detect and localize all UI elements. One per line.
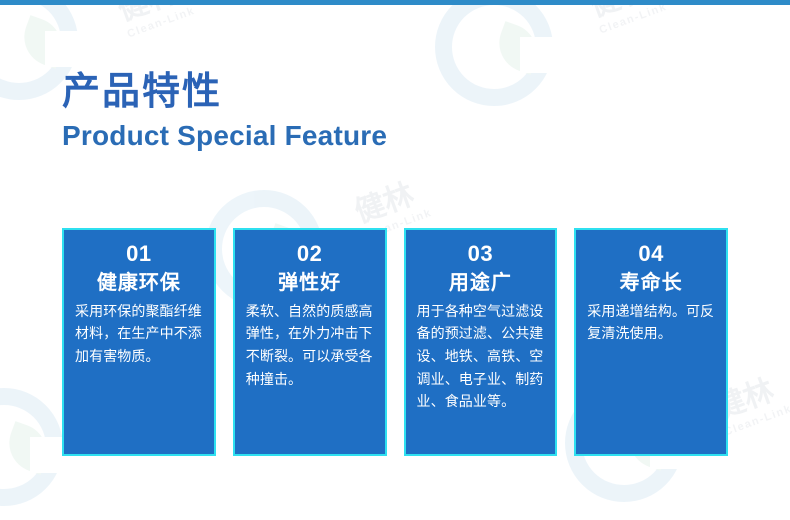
feature-card-body: 采用递增结构。可反复清洗使用。: [587, 301, 715, 346]
watermark-brand-top-left: 健林 Clean-Link: [111, 0, 197, 40]
feature-card-title: 用途广: [449, 269, 512, 295]
feature-card-title: 健康环保: [97, 269, 181, 295]
page-heading: 产品特性 Product Special Feature: [62, 72, 387, 152]
product-feature-page: 健林 Clean-Link 健林 Clean-Link 健林 Clean-Lin…: [0, 0, 790, 520]
feature-card-body: 用于各种空气过滤设备的预过滤、公共建设、地铁、高铁、空调业、电子业、制药业、食品…: [417, 301, 545, 414]
watermark-cn-text: 健林: [348, 166, 430, 232]
feature-card-number: 04: [638, 240, 663, 268]
feature-card: 04 寿命长 采用递增结构。可反复清洗使用。: [574, 228, 728, 456]
watermark-logo-icon: [0, 388, 63, 506]
page-title-en: Product Special Feature: [62, 120, 387, 152]
watermark-brand-top-right: 健林 Clean-Link: [583, 0, 669, 36]
feature-card-number: 01: [126, 240, 151, 268]
watermark-logo-icon: [435, 0, 553, 106]
feature-card: 01 健康环保 采用环保的聚酯纤维材料，在生产中不添加有害物质。: [62, 228, 216, 456]
watermark-latin-text: Clean-Link: [598, 1, 669, 37]
feature-card-title: 弹性好: [278, 269, 341, 295]
feature-card: 03 用途广 用于各种空气过滤设备的预过滤、公共建设、地铁、高铁、空调业、电子业…: [404, 228, 558, 456]
page-title-cn: 产品特性: [62, 72, 387, 112]
feature-card-number: 03: [468, 240, 493, 268]
feature-card-number: 02: [297, 240, 322, 268]
top-accent-bar: [0, 0, 790, 5]
feature-card: 02 弹性好 柔软、自然的质感高弹性，在外力冲击下不断裂。可以承受各种撞击。: [233, 228, 387, 456]
feature-card-list: 01 健康环保 采用环保的聚酯纤维材料，在生产中不添加有害物质。 02 弹性好 …: [62, 228, 728, 456]
watermark-latin-text: Clean-Link: [723, 403, 790, 439]
feature-card-body: 柔软、自然的质感高弹性，在外力冲击下不断裂。可以承受各种撞击。: [246, 301, 374, 392]
feature-card-title: 寿命长: [620, 269, 683, 295]
watermark-latin-text: Clean-Link: [126, 5, 197, 41]
feature-card-body: 采用环保的聚酯纤维材料，在生产中不添加有害物质。: [75, 301, 203, 369]
